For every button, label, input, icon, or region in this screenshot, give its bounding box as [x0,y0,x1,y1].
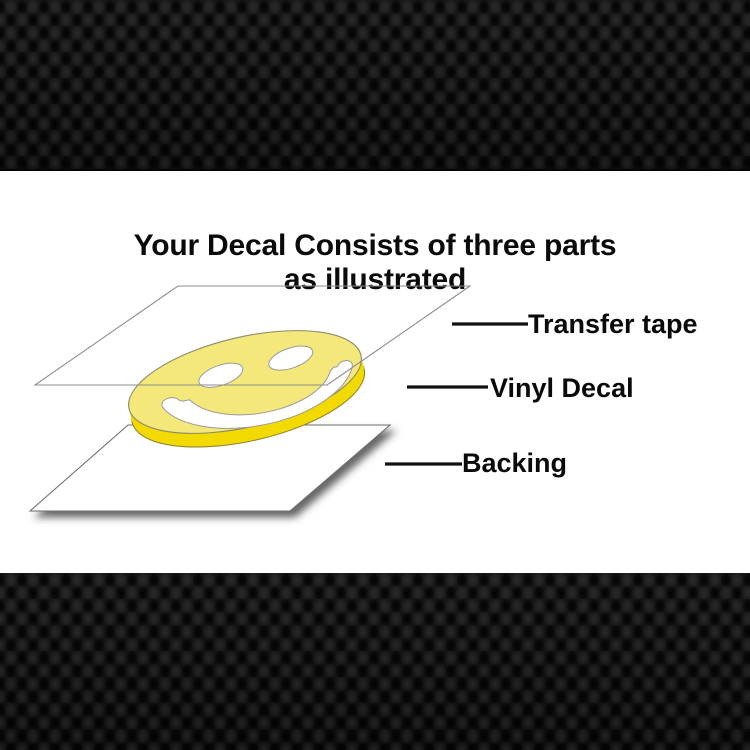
callout-label-backing: Backing [462,450,567,477]
top-texture-band [0,0,750,171]
callout-label-vinyl-decal: Vinyl Decal [490,375,634,402]
product-image-canvas: Your Decal Consists of three parts as il… [0,0,750,750]
callout-label-transfer-tape: Transfer tape [528,311,698,338]
illustration-panel: Your Decal Consists of three parts as il… [0,171,750,573]
decal-layer-diagram [0,171,750,573]
bottom-texture-band [0,573,750,750]
